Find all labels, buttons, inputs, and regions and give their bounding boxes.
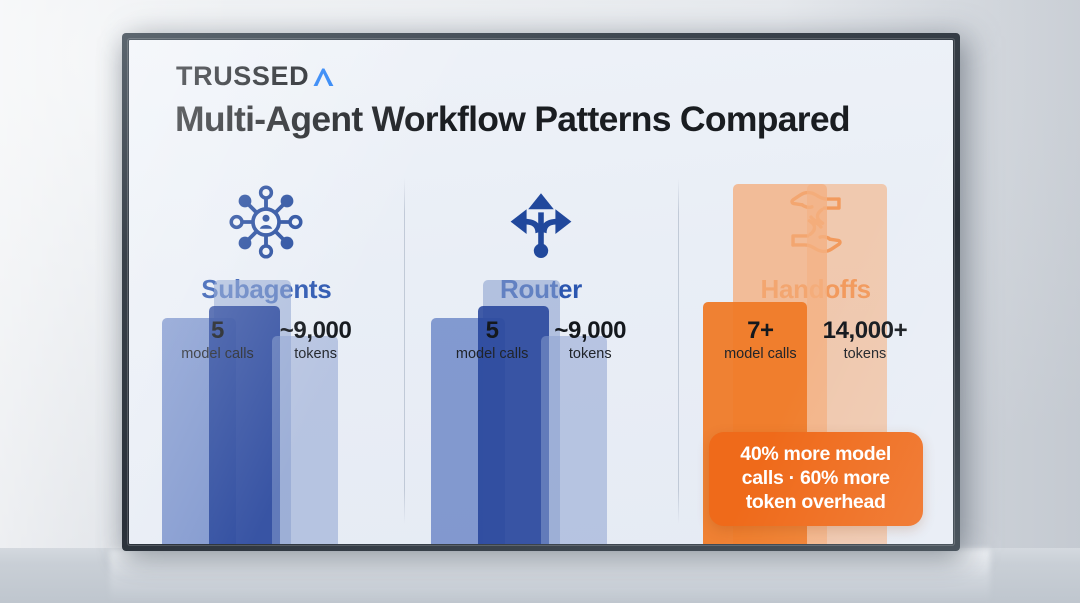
metric-model-calls: 7+ model calls xyxy=(724,318,797,364)
metric-label: model calls xyxy=(724,345,797,365)
metric-value: 5 xyxy=(181,318,254,344)
metric-tokens: ~9,000 tokens xyxy=(554,318,626,364)
metrics-subagents: 5 model calls ~9,000 tokens xyxy=(129,318,404,364)
poster-frame: TRUSSED Multi-Agent Workflow Patterns Co… xyxy=(122,33,960,551)
metric-value: ~9,000 xyxy=(554,318,626,344)
comparison-columns: Subagents 5 model calls ~9,000 tokens xyxy=(129,170,953,542)
brand-logo-wordmark: TRUSSED xyxy=(176,63,309,90)
metric-value: ~9,000 xyxy=(280,318,352,344)
floor-reflection xyxy=(110,549,990,603)
column-handoffs: Handoffs 7+ model calls 14,000+ tokens 4… xyxy=(678,170,953,542)
column-router: Router 5 model calls ~9,000 tokens xyxy=(404,170,679,542)
page-title: Multi-Agent Workflow Patterns Compared xyxy=(175,99,850,140)
column-subagents: Subagents 5 model calls ~9,000 tokens xyxy=(129,170,404,542)
metric-label: tokens xyxy=(823,345,908,365)
metric-label: model calls xyxy=(456,345,529,365)
metric-model-calls: 5 model calls xyxy=(181,318,254,364)
metrics-handoffs: 7+ model calls 14,000+ tokens xyxy=(678,318,953,364)
metric-model-calls: 5 model calls xyxy=(456,318,529,364)
metric-value: 14,000+ xyxy=(823,318,908,344)
metrics-router: 5 model calls ~9,000 tokens xyxy=(404,318,679,364)
scene: TRUSSED Multi-Agent Workflow Patterns Co… xyxy=(0,0,1080,603)
metric-label: tokens xyxy=(280,345,352,365)
brand-logo: TRUSSED xyxy=(176,63,336,90)
metric-value: 5 xyxy=(456,318,529,344)
metric-label: model calls xyxy=(181,345,254,365)
trussed-ai-mark-icon xyxy=(310,64,336,90)
bar xyxy=(272,336,338,544)
metric-tokens: 14,000+ tokens xyxy=(823,318,908,364)
overhead-callout-badge: 40% more model calls · 60% more token ov… xyxy=(709,432,923,526)
bar xyxy=(541,336,607,544)
metric-value: 7+ xyxy=(724,318,797,344)
poster-canvas: TRUSSED Multi-Agent Workflow Patterns Co… xyxy=(129,40,953,544)
metric-label: tokens xyxy=(554,345,626,365)
metric-tokens: ~9,000 tokens xyxy=(280,318,352,364)
